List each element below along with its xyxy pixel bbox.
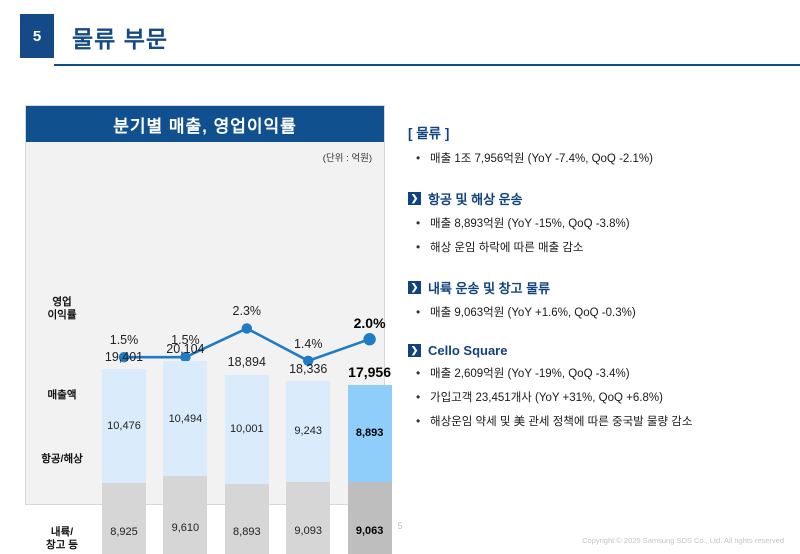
- chevron-right-icon: ❯: [408, 281, 421, 294]
- panel-section: ❯항공 및 해상 운송매출 8,893억원 (YoY -15%, QoQ -3.…: [408, 189, 788, 256]
- panel-section-bullets: 매출 8,893억원 (YoY -15%, QoQ -3.8%)해상 운임 하락…: [408, 217, 788, 256]
- slide-number-badge: 5: [20, 14, 54, 58]
- row-label-operating-margin-line1: 영업: [34, 296, 90, 309]
- bar-total-label: 17,956: [338, 364, 402, 380]
- list-item: 매출 9,063억원 (YoY +1.6%, QoQ -0.3%): [408, 306, 788, 321]
- bar-segment-inland-warehouse: 9,093: [286, 482, 330, 554]
- details-panel: [ 물류 ] 매출 1조 7,956억원 (YoY -7.4%, QoQ -2.…: [408, 122, 788, 439]
- chevron-right-icon: ❯: [408, 344, 421, 357]
- bar-segment-air-sea: 10,494: [163, 361, 207, 476]
- revenue-stacked-bars: 19,40110,4768,92520,10410,4949,61018,894…: [94, 274, 378, 554]
- panel-section-title: Cello Square: [428, 343, 507, 358]
- list-item: 매출 8,893억원 (YoY -15%, QoQ -3.8%): [408, 217, 788, 232]
- row-label-operating-margin: 영업 이익률: [34, 296, 90, 322]
- chart-title: 분기별 매출, 영업이익률: [26, 106, 384, 142]
- chart-card: 분기별 매출, 영업이익률 (단위 : 억원) 영업 이익률 매출액 항공/해상…: [25, 105, 385, 505]
- panel-section-bullets: 매출 9,063억원 (YoY +1.6%, QoQ -0.3%): [408, 306, 788, 321]
- bar-segment-air-sea: 10,001: [225, 375, 269, 484]
- bar-segment-air-sea: 8,893: [348, 385, 392, 482]
- row-label-revenue: 매출액: [34, 389, 90, 402]
- panel-heading: [ 물류 ]: [408, 122, 788, 142]
- bar-segment-air-sea: 10,476: [102, 369, 146, 484]
- page-title: 물류 부문: [72, 20, 168, 54]
- panel-section: ❯Cello Square매출 2,609억원 (YoY -19%, QoQ -…: [408, 343, 788, 430]
- panel-section-heading: ❯Cello Square: [408, 343, 788, 358]
- chart-unit-note: (단위 : 억원): [323, 150, 372, 164]
- slide-title-row: 5 물류 부문: [20, 14, 780, 60]
- list-item: 해상운임 약세 및 美 관세 정책에 따른 중국발 물량 감소: [408, 415, 788, 430]
- panel-section-title: 항공 및 해상 운송: [428, 189, 523, 208]
- panel-sections: ❯항공 및 해상 운송매출 8,893억원 (YoY -15%, QoQ -3.…: [408, 189, 788, 430]
- bar-segment-inland-warehouse: 8,925: [102, 483, 146, 554]
- page-number: 5: [0, 521, 800, 531]
- bar-segment-inland-warehouse: 9,610: [163, 476, 207, 554]
- panel-section-heading: ❯내륙 운송 및 창고 물류: [408, 278, 788, 297]
- row-label-inland-line2: 창고 등: [34, 539, 90, 552]
- list-item: 매출 1조 7,956억원 (YoY -7.4%, QoQ -2.1%): [408, 152, 788, 167]
- slide: 5 물류 부문 분기별 매출, 영업이익률 (단위 : 억원) 영업 이익률 매…: [0, 0, 800, 554]
- row-label-operating-margin-line2: 이익률: [34, 309, 90, 322]
- panel-section: ❯내륙 운송 및 창고 물류매출 9,063억원 (YoY +1.6%, QoQ…: [408, 278, 788, 321]
- panel-heading-bullets: 매출 1조 7,956억원 (YoY -7.4%, QoQ -2.1%): [408, 152, 788, 167]
- bar-total-label: 18,894: [215, 355, 279, 369]
- panel-section-bullets: 매출 2,609억원 (YoY -19%, QoQ -3.4%)가입고객 23,…: [408, 367, 788, 430]
- list-item: 매출 2,609억원 (YoY -19%, QoQ -3.4%): [408, 367, 788, 382]
- bar-total-label: 18,336: [276, 362, 340, 376]
- panel-section-heading: ❯항공 및 해상 운송: [408, 189, 788, 208]
- list-item: 해상 운임 하락에 따른 매출 감소: [408, 241, 788, 256]
- chevron-right-icon: ❯: [408, 192, 421, 205]
- bar-total-label: 20,104: [153, 342, 217, 356]
- list-item: 가입고객 23,451개사 (YoY +31%, QoQ +6.8%): [408, 391, 788, 406]
- copyright-notice: Copyright © 2025 Samsung SDS Co., Ltd. A…: [582, 536, 784, 545]
- bar-segment-inland-warehouse: 9,063: [348, 482, 392, 554]
- bar-segment-inland-warehouse: 8,893: [225, 484, 269, 554]
- bar-total-label: 19,401: [92, 350, 156, 364]
- title-underline: [54, 64, 800, 66]
- bar-segment-air-sea: 9,243: [286, 381, 330, 482]
- panel-section-title: 내륙 운송 및 창고 물류: [428, 278, 550, 297]
- row-label-air-sea: 항공/해상: [34, 453, 90, 466]
